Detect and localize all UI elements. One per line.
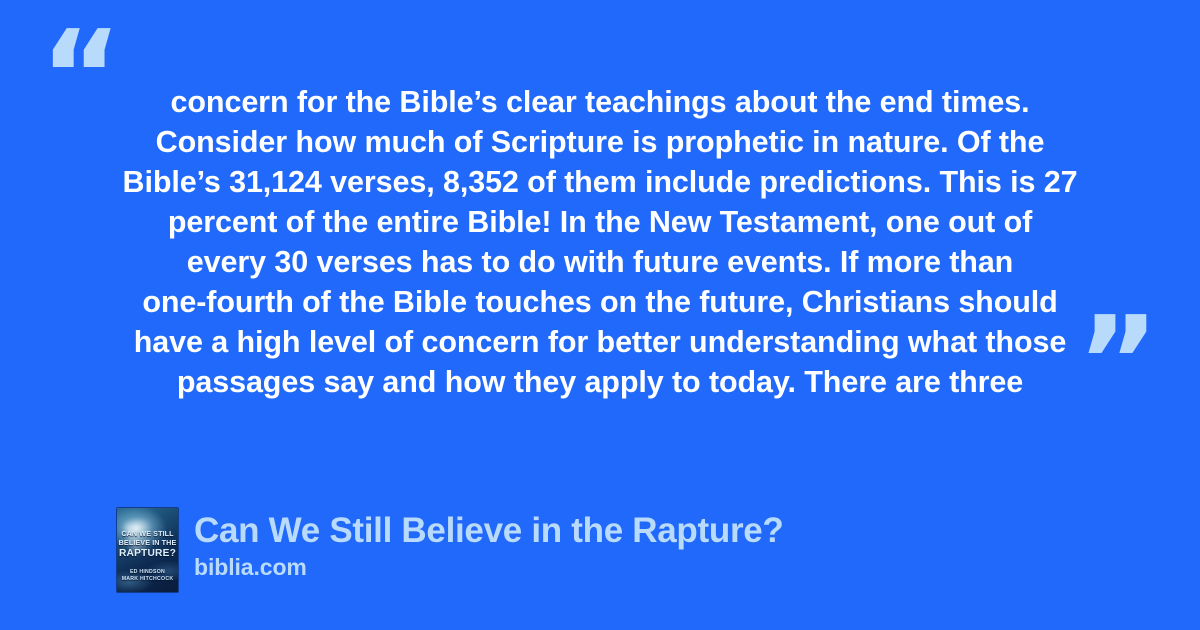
footer-text-block: Can We Still Believe in the Rapture? bib…: [194, 508, 784, 581]
book-cover-authors: ED HINDSON MARK HITCHCOCK: [117, 569, 178, 583]
book-cover-title: CAN WE STILL BELIEVE IN THE RAPTURE?: [117, 529, 178, 560]
book-cover-author-2: MARK HITCHCOCK: [122, 576, 174, 582]
book-cover-thumbnail[interactable]: CAN WE STILL BELIEVE IN THE RAPTURE? ED …: [117, 508, 178, 592]
book-cover-title-line1: CAN WE STILL: [121, 529, 173, 538]
quote-text: concern for the Bible’s clear teachings …: [110, 82, 1090, 402]
book-cover-author-1: ED HINDSON: [130, 569, 165, 575]
book-cover-title-line3: RAPTURE?: [117, 548, 178, 560]
book-title[interactable]: Can We Still Believe in the Rapture?: [194, 511, 784, 551]
quote-card: “ concern for the Bible’s clear teaching…: [0, 0, 1200, 630]
book-cover-title-line2: BELIEVE IN THE: [119, 538, 177, 547]
site-url[interactable]: biblia.com: [194, 553, 784, 581]
closing-quote-mark: ”: [1077, 300, 1159, 425]
attribution-footer: CAN WE STILL BELIEVE IN THE RAPTURE? ED …: [117, 508, 784, 592]
quote-region: “ concern for the Bible’s clear teaching…: [0, 0, 1200, 470]
